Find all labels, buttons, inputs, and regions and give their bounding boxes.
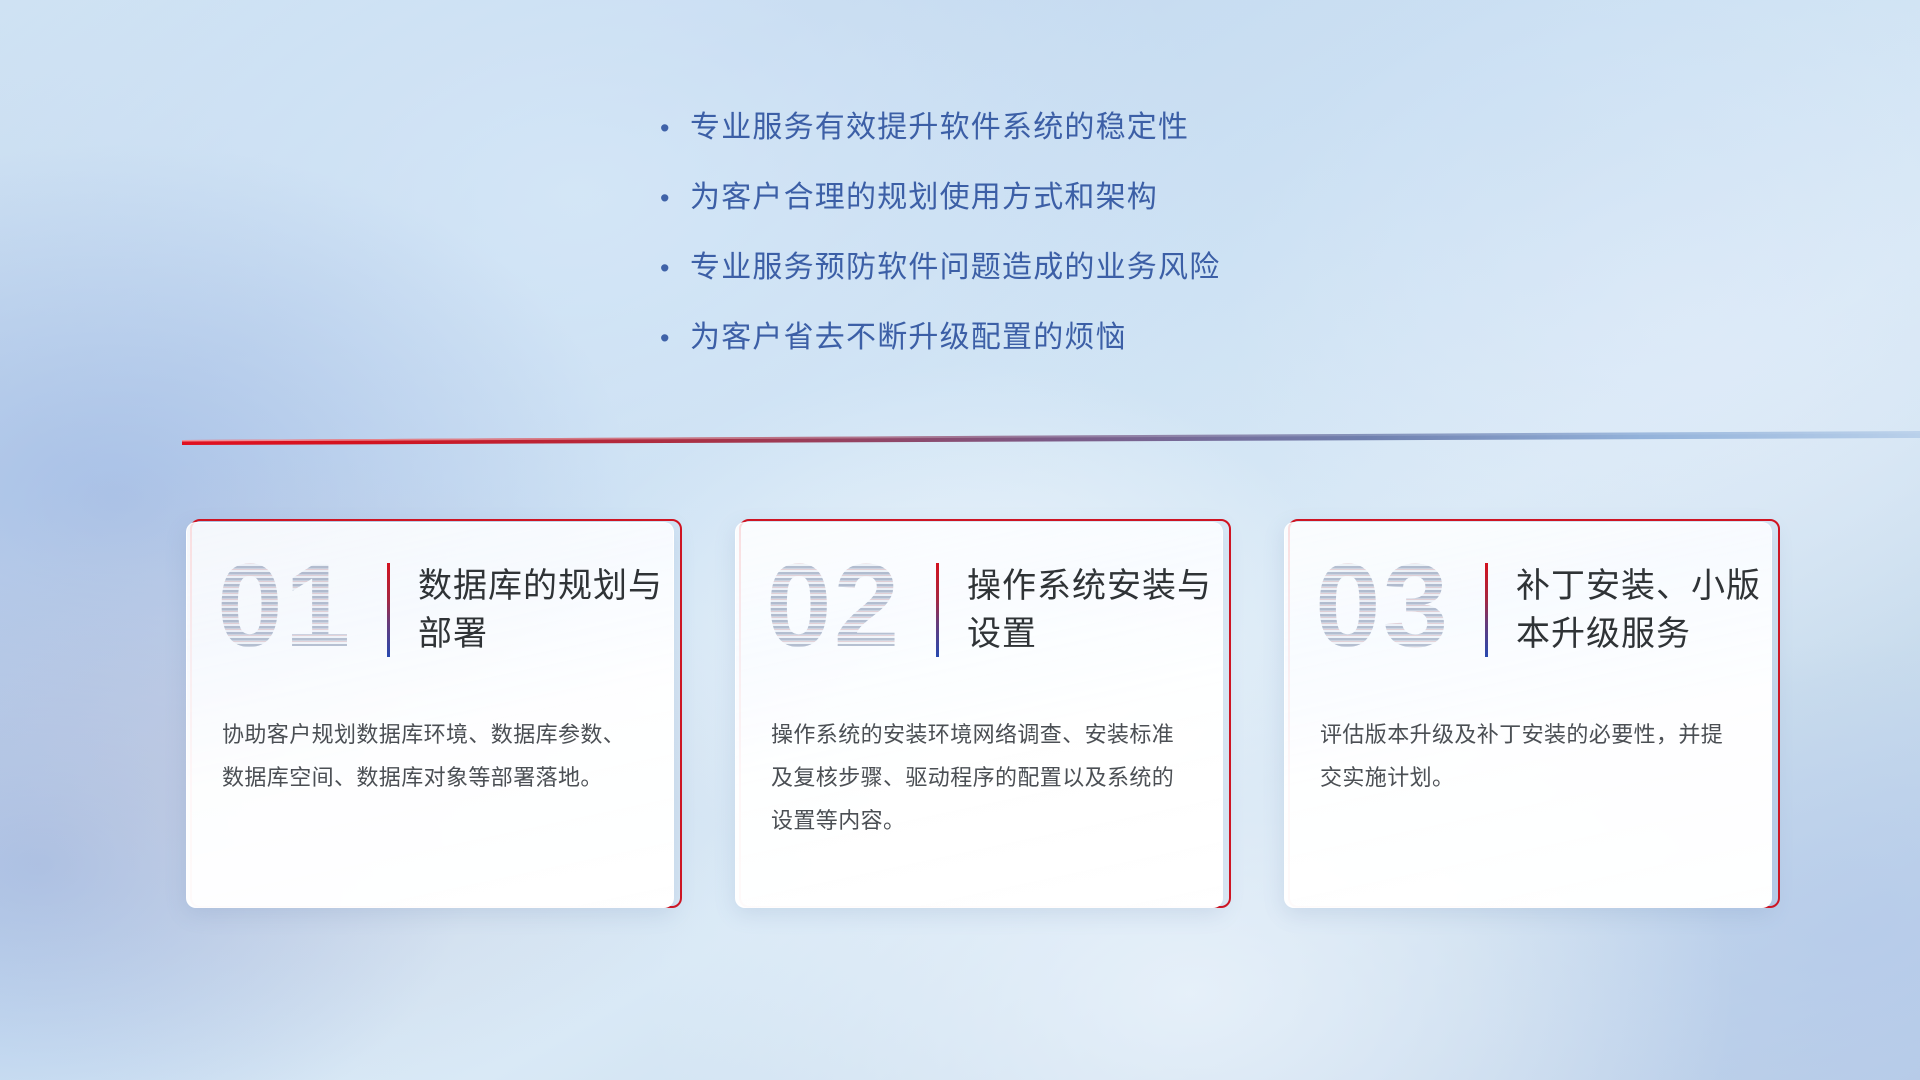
card-panel: 02 操作系统安装与设置 操作系统的安装环境网络调查、安装标准及复核步骤、驱动程… <box>735 522 1223 908</box>
bullet-marker-icon: • <box>660 108 690 148</box>
card-body-text: 评估版本升级及补丁安装的必要性，并提交实施计划。 <box>1320 713 1740 799</box>
card-panel: 01 数据库的规划与部署 协助客户规划数据库环境、数据库参数、数据库空间、数据库… <box>186 522 674 908</box>
bullet-marker-icon: • <box>660 318 690 358</box>
card-number-watermark: 03 <box>1313 548 1471 672</box>
slide-canvas: • 专业服务有效提升软件系统的稳定性 • 为客户合理的规划使用方式和架构 • 专… <box>0 0 1920 1080</box>
bullet-text: 专业服务预防软件问题造成的业务风险 <box>690 248 1220 288</box>
card-accent-bar <box>1485 563 1488 657</box>
card-title: 数据库的规划与部署 <box>418 562 664 658</box>
list-item: • 专业服务有效提升软件系统的稳定性 <box>660 108 1220 148</box>
card-header: 01 数据库的规划与部署 <box>187 540 674 680</box>
service-card[interactable]: 02 操作系统安装与设置 操作系统的安装环境网络调查、安装标准及复核步骤、驱动程… <box>735 519 1227 908</box>
bullet-text: 为客户省去不断升级配置的烦恼 <box>690 318 1127 358</box>
card-header: 03 补丁安装、小版本升级服务 <box>1285 540 1772 680</box>
list-item: • 专业服务预防软件问题造成的业务风险 <box>660 248 1220 288</box>
list-item: • 为客户省去不断升级配置的烦恼 <box>660 318 1220 358</box>
card-accent-bar <box>936 563 939 657</box>
bullet-text: 专业服务有效提升软件系统的稳定性 <box>690 108 1189 148</box>
card-header: 02 操作系统安装与设置 <box>736 540 1223 680</box>
service-card[interactable]: 03 补丁安装、小版本升级服务 评估版本升级及补丁安装的必要性，并提交实施计划。 <box>1284 519 1776 908</box>
service-card-row: 01 数据库的规划与部署 协助客户规划数据库环境、数据库参数、数据库空间、数据库… <box>186 519 1776 908</box>
card-accent-bar <box>387 563 390 657</box>
card-panel: 03 补丁安装、小版本升级服务 评估版本升级及补丁安装的必要性，并提交实施计划。 <box>1284 522 1772 908</box>
service-card[interactable]: 01 数据库的规划与部署 协助客户规划数据库环境、数据库参数、数据库空间、数据库… <box>186 519 678 908</box>
bullet-text: 为客户合理的规划使用方式和架构 <box>690 178 1158 218</box>
card-title: 操作系统安装与设置 <box>967 562 1213 658</box>
card-number-watermark: 02 <box>764 548 922 672</box>
bullet-list: • 专业服务有效提升软件系统的稳定性 • 为客户合理的规划使用方式和架构 • 专… <box>660 108 1220 358</box>
card-body-text: 协助客户规划数据库环境、数据库参数、数据库空间、数据库对象等部署落地。 <box>222 713 642 799</box>
card-number-watermark: 01 <box>215 548 373 672</box>
card-body-text: 操作系统的安装环境网络调查、安装标准及复核步骤、驱动程序的配置以及系统的设置等内… <box>771 713 1191 842</box>
section-divider <box>0 418 1920 452</box>
card-title: 补丁安装、小版本升级服务 <box>1516 562 1762 658</box>
bullet-marker-icon: • <box>660 178 690 218</box>
bullet-marker-icon: • <box>660 248 690 288</box>
list-item: • 为客户合理的规划使用方式和架构 <box>660 178 1220 218</box>
